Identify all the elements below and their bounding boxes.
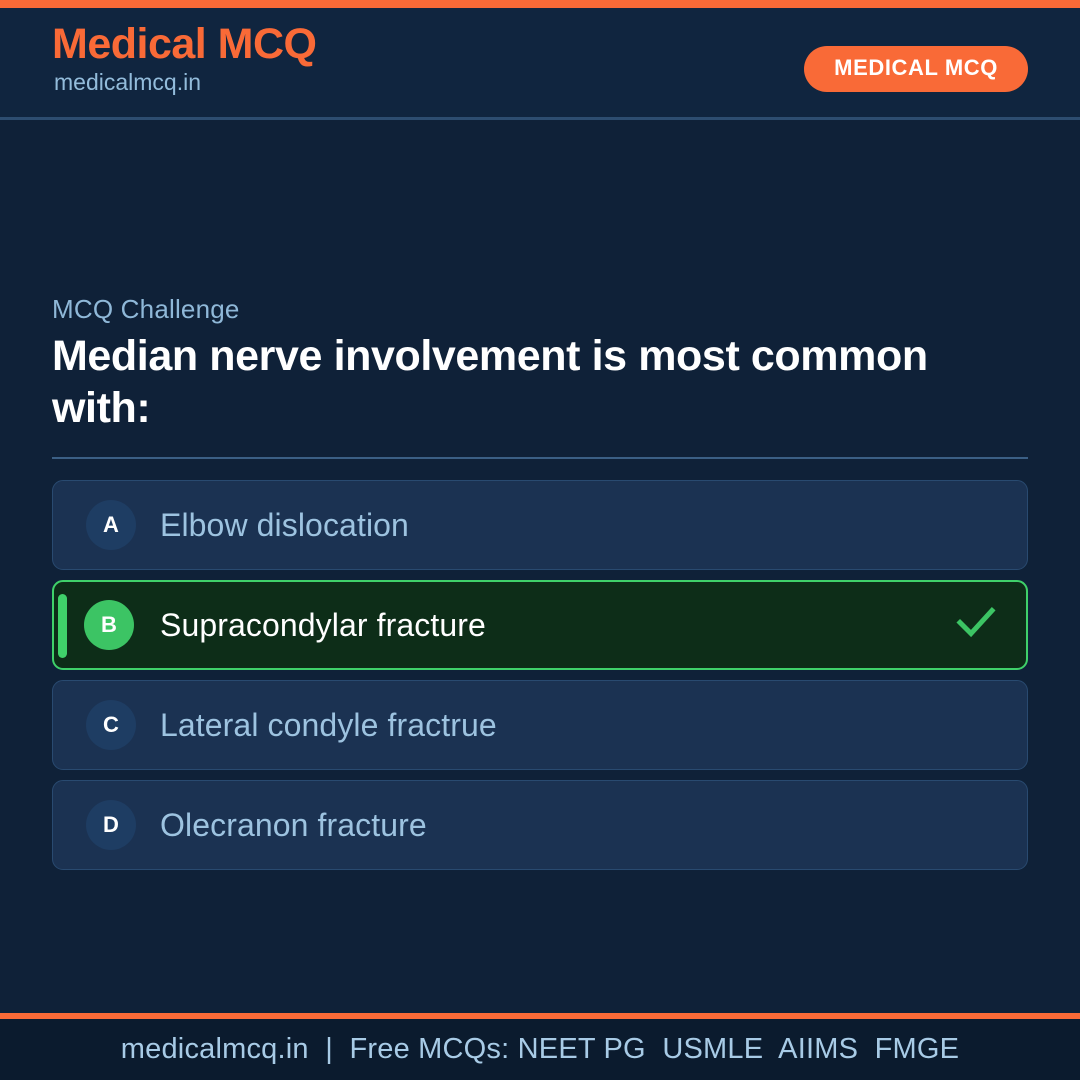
footer-text: medicalmcq.in | Free MCQs: NEET PG USMLE…	[121, 1033, 959, 1066]
selected-accent-bar	[58, 594, 67, 658]
brand: Medical MCQ medicalmcq.in	[52, 22, 317, 95]
option-letter-badge: B	[84, 600, 134, 650]
option-label: Elbow dislocation	[160, 507, 409, 544]
top-accent-bar	[0, 0, 1080, 8]
options-list: A Elbow dislocation B Supracondylar frac…	[52, 480, 1028, 880]
option-letter-badge: A	[86, 500, 136, 550]
option-label: Olecranon fracture	[160, 807, 427, 844]
page-header: Medical MCQ medicalmcq.in MEDICAL MCQ	[0, 8, 1080, 120]
question-text: Median nerve involvement is most common …	[52, 330, 952, 434]
option-letter-badge: D	[86, 800, 136, 850]
option-label: Lateral condyle fractrue	[160, 707, 497, 744]
brand-title: Medical MCQ	[52, 22, 317, 67]
option-letter-badge: C	[86, 700, 136, 750]
option-b[interactable]: B Supracondylar fracture	[52, 580, 1028, 670]
page-footer: medicalmcq.in | Free MCQs: NEET PG USMLE…	[0, 1013, 1080, 1080]
question-label: MCQ Challenge	[52, 294, 240, 325]
option-a[interactable]: A Elbow dislocation	[52, 480, 1028, 570]
check-icon	[956, 606, 996, 645]
main-content: MCQ Challenge Median nerve involvement i…	[0, 120, 1080, 1013]
header-badge: MEDICAL MCQ	[804, 46, 1028, 92]
question-divider	[52, 457, 1028, 459]
brand-subtitle: medicalmcq.in	[54, 70, 317, 95]
option-label: Supracondylar fracture	[160, 607, 486, 644]
option-c[interactable]: C Lateral condyle fractrue	[52, 680, 1028, 770]
option-d[interactable]: D Olecranon fracture	[52, 780, 1028, 870]
